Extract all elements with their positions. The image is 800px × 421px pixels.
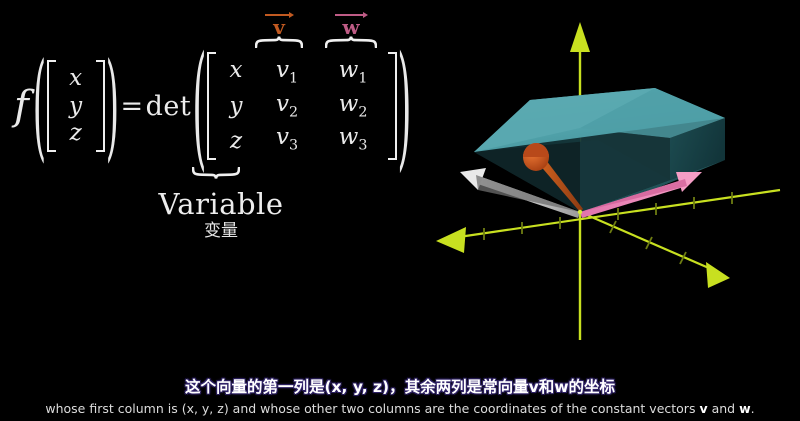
matrix-columns: x y z v1 v2 v3 w1 w2 w3 <box>216 52 388 160</box>
column-head-w: w <box>332 10 370 37</box>
subtitle-english-vector-w: w <box>739 401 751 416</box>
matrix-cell-w2: w2 <box>339 93 368 120</box>
open-paren-outer-left: ( <box>33 48 46 164</box>
video-frame: v w f ( x <box>0 0 800 421</box>
overbrace-v <box>255 36 303 48</box>
close-paren-outer-left: ) <box>105 48 118 164</box>
input-bracket-right <box>96 60 105 152</box>
matrix-cell-w1: w1 <box>339 59 368 86</box>
matrix-cell-w3: w3 <box>339 126 368 153</box>
subtitle-block: 这个向量的第一列是(x, y, z)，其余两列是常向量v和w的坐标 whose … <box>0 377 800 418</box>
input-entry-y: y <box>69 95 82 118</box>
matrix-3x3: x y z v1 v2 v3 w1 w2 w3 <box>207 52 397 160</box>
matrix-bracket-left <box>207 52 216 160</box>
matrix-cell-z: z <box>230 130 242 153</box>
input-entry-x: x <box>69 67 82 90</box>
underbrace-variable <box>192 167 240 181</box>
subtitle-english-prefix: whose first column is (x, y, z) and whos… <box>45 401 699 416</box>
column-head-v: v <box>262 10 296 37</box>
three-d-scene <box>430 0 800 360</box>
input-column-vector: x y z <box>47 60 105 152</box>
vector-arrow-v-icon <box>262 10 296 19</box>
variable-label-english: Variable <box>128 189 314 219</box>
y-axis <box>580 212 730 288</box>
subtitle-english-suffix: . <box>751 401 755 416</box>
formula-panel: v w f ( x <box>0 0 430 260</box>
matrix-cell-x: x <box>230 59 243 82</box>
equals-sign: = <box>119 93 144 120</box>
matrix-bracket-right <box>388 52 397 160</box>
subtitle-english: whose first column is (x, y, z) and whos… <box>0 400 800 418</box>
input-entry-z: z <box>70 122 82 145</box>
input-vector-column: x y z <box>56 60 96 152</box>
subtitle-chinese: 这个向量的第一列是(x, y, z)，其余两列是常向量v和w的坐标 <box>0 377 800 398</box>
matrix-cell-y: y <box>230 95 243 118</box>
function-symbol: f <box>14 86 32 126</box>
variable-label-chinese: 变量 <box>128 220 314 242</box>
matrix-column-v: v1 v2 v3 <box>256 52 318 160</box>
matrix-cell-v2: v2 <box>276 93 298 120</box>
input-vector-entries: x y z <box>56 60 96 152</box>
variable-annotation: Variable 变量 <box>128 189 314 243</box>
input-bracket-left <box>47 60 56 152</box>
matrix-column-variable: x y z <box>216 52 256 160</box>
vector-arrow-w-icon <box>332 10 370 19</box>
origin-point <box>578 210 582 214</box>
det-label: det <box>145 93 193 120</box>
matrix-cell-v3: v3 <box>276 126 298 153</box>
subtitle-english-vector-v: v <box>699 401 707 416</box>
subtitle-english-middle: and <box>708 401 739 416</box>
matrix-column-w: w1 w2 w3 <box>318 52 388 160</box>
close-paren-det: ) <box>397 39 411 174</box>
overbrace-w <box>325 36 377 48</box>
equation-row: f ( x y z ) = det ( <box>14 52 412 160</box>
open-paren-det: ( <box>193 39 207 174</box>
matrix-cell-v1: v1 <box>276 59 298 86</box>
